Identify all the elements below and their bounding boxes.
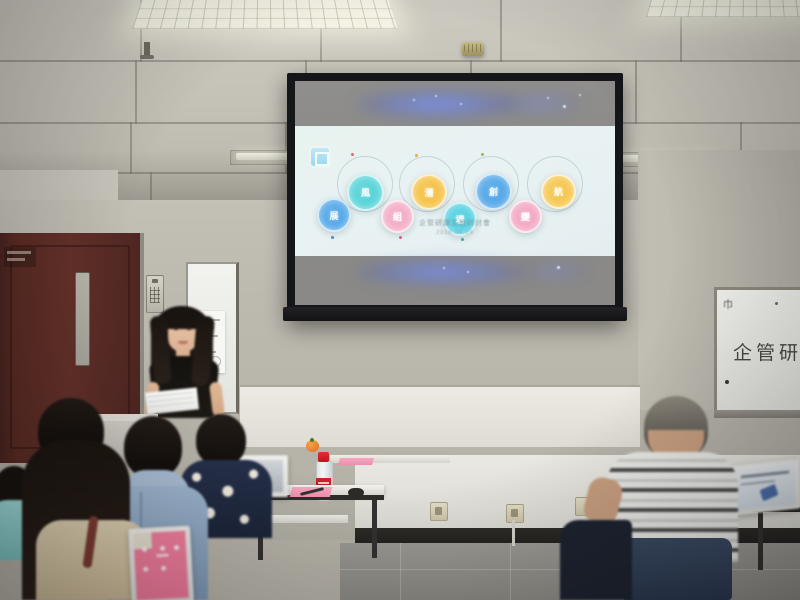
wall-outlet[interactable] [430,502,448,521]
door-keypad[interactable] [146,275,164,313]
whiteboard-handwriting: 企管研 [733,338,800,365]
laptop-front-row[interactable] [128,525,194,600]
slide-bubble: 航 [541,174,576,209]
whiteboard-corner-mark: 巾 [723,296,733,311]
slide-bubble: 風 [347,174,384,211]
slide-accent-dot [415,154,418,157]
ceiling-sprinkler [144,42,150,58]
tangerine [306,440,319,452]
notepad [338,458,374,465]
smoke-detector [462,42,484,56]
slide-accent-dot [399,236,402,239]
projection-screen-bottom-bar [283,307,627,321]
ceiling-light-panel [646,0,800,17]
slide-accent-dot [461,238,464,241]
slide-accent-dot [351,153,354,156]
slide-bubble: 潛 [411,174,447,210]
slide-date: 2016.06.29 [295,230,615,236]
ceiling-light-panel [132,0,397,29]
computer-mouse[interactable] [348,488,364,497]
slide-bubble: 變 [509,200,542,233]
projection-screen: 展風組潛場創變航 企管研讀主題研討會 2016.06.29 [287,73,623,320]
attendee-lower-body [560,520,632,600]
slide-bubble: 創 [475,173,512,210]
water-bottle-cap [318,452,329,462]
chair[interactable] [622,538,732,600]
presentation-logo-icon [311,148,329,166]
slide-accent-dot [481,153,484,156]
center-whiteboard [240,385,640,447]
right-whiteboard: 巾 企管研 [714,287,800,413]
slide-title: 企管研讀主題研討會 [295,218,615,228]
door-room-sign [4,247,36,267]
slide-bubble: 組 [381,200,414,233]
projected-slide: 展風組潛場創變航 企管研讀主題研討會 2016.06.29 [295,81,615,305]
wall-outlet[interactable] [506,504,524,523]
classroom-scene: 展風組潛場創變航 企管研讀主題研討會 2016.06.29 巾 企管研 [0,0,800,600]
slide-content-panel: 展風組潛場創變航 企管研讀主題研討會 2016.06.29 [295,126,615,256]
laptop-right-row[interactable] [730,458,800,515]
slide-accent-dot [331,236,334,239]
door-window [75,272,90,366]
